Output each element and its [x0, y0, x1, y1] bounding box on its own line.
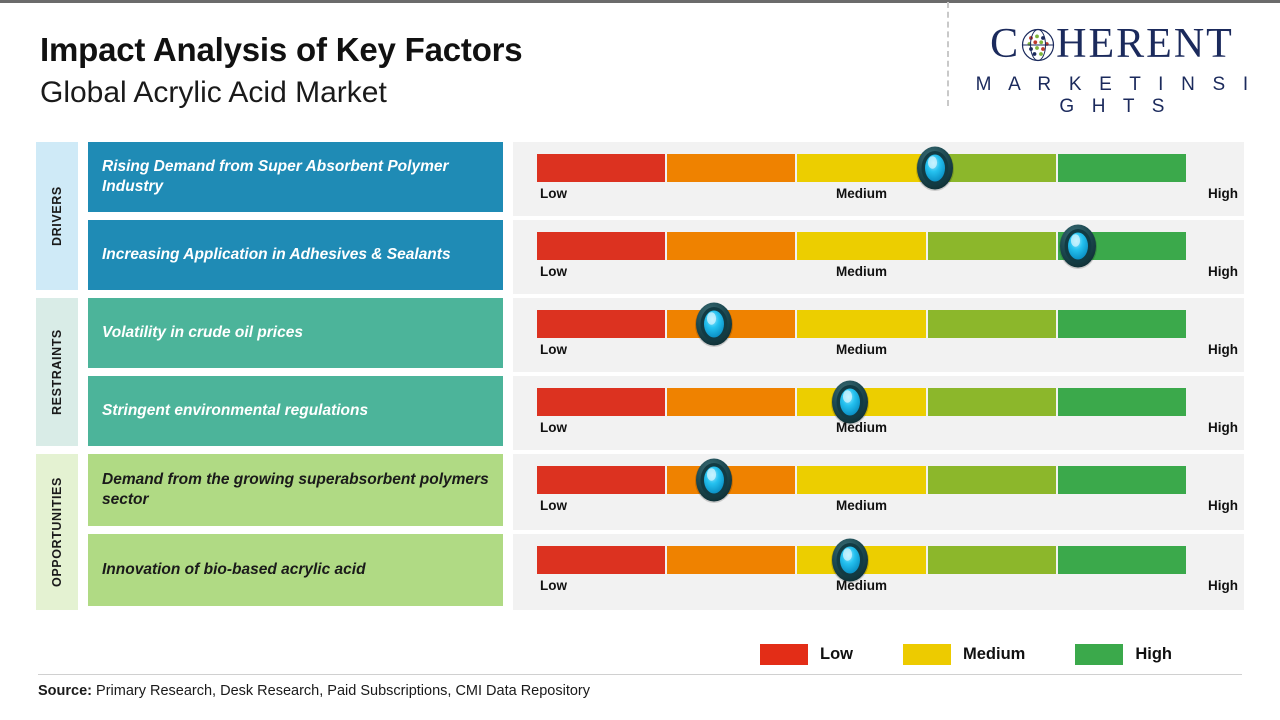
impact-gauge-bar: [537, 546, 1186, 574]
legend-swatch-medium: [903, 644, 951, 665]
legend-item: Medium: [903, 644, 1025, 665]
scale-label-high: High: [1208, 498, 1238, 513]
category-label-restraints: RESTRAINTS: [36, 298, 78, 446]
gauge-row: LowMediumHigh: [513, 220, 1244, 294]
gauge-segment-4: [928, 466, 1058, 494]
legend-swatch-low: [760, 644, 808, 665]
logo-divider: [947, 2, 949, 106]
gauge-scale: LowMediumHigh: [537, 186, 1186, 208]
gauge-segment-2: [667, 232, 797, 260]
impact-gauge-bar: [537, 388, 1186, 416]
gauge-row: LowMediumHigh: [513, 376, 1244, 450]
factor-label: Demand from the growing superabsorbent p…: [102, 470, 489, 511]
gauge-segment-5: [1058, 310, 1186, 338]
gauge-scale: LowMediumHigh: [537, 420, 1186, 442]
gauge-segment-3: [797, 546, 927, 574]
legend-label: Low: [820, 645, 853, 664]
gauge-segment-4: [928, 546, 1058, 574]
impact-gauge-bar: [537, 232, 1186, 260]
gauge-segment-1: [537, 154, 667, 182]
gauge-segment-1: [537, 232, 667, 260]
source-footer: Source: Primary Research, Desk Research,…: [38, 683, 590, 699]
gauge-segment-2: [667, 546, 797, 574]
gauge-segment-1: [537, 310, 667, 338]
logo-tagline: M A R K E T I N S I G H T S: [962, 74, 1262, 118]
top-divider: [0, 0, 1280, 3]
source-label: Source:: [38, 683, 92, 699]
gauge-row: LowMediumHigh: [513, 298, 1244, 372]
impact-gauge-bar: [537, 466, 1186, 494]
factor-label: Increasing Application in Adhesives & Se…: [102, 245, 451, 265]
factor-box: Innovation of bio-based acrylic acid: [88, 534, 503, 606]
gauge-row: LowMediumHigh: [513, 534, 1244, 610]
gauge-segment-5: [1058, 466, 1186, 494]
gauge-segment-1: [537, 546, 667, 574]
factor-box: Rising Demand from Super Absorbent Polym…: [88, 142, 503, 212]
gauge-segment-3: [797, 466, 927, 494]
scale-label-high: High: [1208, 578, 1238, 593]
legend-item: Low: [760, 644, 853, 665]
logo-word-herent: HERENT: [1056, 23, 1234, 65]
category-label-opportunities: OPPORTUNITIES: [36, 454, 78, 610]
factor-box: Stringent environmental regulations: [88, 376, 503, 446]
gauge-segment-5: [1058, 154, 1186, 182]
legend-label: Medium: [963, 645, 1025, 664]
factor-label: Stringent environmental regulations: [102, 401, 368, 421]
logo-wordmark-top: C: [962, 20, 1262, 68]
category-label-drivers: DRIVERS: [36, 142, 78, 290]
impact-gauge-bar: [537, 154, 1186, 182]
scale-label-low: Low: [540, 578, 567, 593]
scale-label-low: Low: [540, 342, 567, 357]
gauge-segment-3: [797, 232, 927, 260]
scale-label-high: High: [1208, 420, 1238, 435]
scale-label-high: High: [1208, 342, 1238, 357]
scale-label-medium: Medium: [836, 342, 887, 357]
factor-box: Increasing Application in Adhesives & Se…: [88, 220, 503, 290]
gauge-segment-4: [928, 310, 1058, 338]
scale-label-low: Low: [540, 498, 567, 513]
scale-label-high: High: [1208, 186, 1238, 201]
gauge-segment-4: [928, 388, 1058, 416]
scale-label-medium: Medium: [836, 498, 887, 513]
factor-label: Innovation of bio-based acrylic acid: [102, 560, 366, 580]
legend-label: High: [1135, 645, 1172, 664]
scale-label-medium: Medium: [836, 264, 887, 279]
scale-label-low: Low: [540, 420, 567, 435]
company-logo: C: [962, 20, 1262, 118]
gauge-segment-3: [797, 388, 927, 416]
source-text: Primary Research, Desk Research, Paid Su…: [92, 683, 590, 699]
gauge-scale: LowMediumHigh: [537, 342, 1186, 364]
gauge-row: LowMediumHigh: [513, 142, 1244, 216]
gauge-segment-5: [1058, 232, 1186, 260]
scale-label-high: High: [1208, 264, 1238, 279]
gauge-segment-5: [1058, 388, 1186, 416]
gauge-scale: LowMediumHigh: [537, 264, 1186, 286]
factor-box: Volatility in crude oil prices: [88, 298, 503, 368]
gauge-segment-2: [667, 310, 797, 338]
footer-divider: [38, 674, 1242, 675]
impact-gauge-bar: [537, 310, 1186, 338]
legend-item: High: [1075, 644, 1172, 665]
scale-label-medium: Medium: [836, 578, 887, 593]
logo-letter-c: C: [990, 23, 1020, 65]
gauge-scale: LowMediumHigh: [537, 498, 1186, 520]
gauge-segment-3: [797, 154, 927, 182]
page-subtitle: Global Acrylic Acid Market: [40, 74, 522, 112]
chart-legend: LowMediumHigh: [760, 644, 1172, 665]
scale-label-medium: Medium: [836, 186, 887, 201]
scale-label-low: Low: [540, 186, 567, 201]
gauge-segment-3: [797, 310, 927, 338]
page-header: Impact Analysis of Key Factors Global Ac…: [40, 30, 522, 111]
gauge-segment-2: [667, 466, 797, 494]
gauge-segment-4: [928, 154, 1058, 182]
page-title: Impact Analysis of Key Factors: [40, 30, 522, 70]
gauge-segment-1: [537, 466, 667, 494]
gauge-segment-1: [537, 388, 667, 416]
factor-label: Volatility in crude oil prices: [102, 323, 303, 343]
scale-label-medium: Medium: [836, 420, 887, 435]
factor-label: Rising Demand from Super Absorbent Polym…: [102, 157, 489, 198]
slide-root: Impact Analysis of Key Factors Global Ac…: [0, 0, 1280, 720]
gauge-segment-2: [667, 154, 797, 182]
gauge-segment-5: [1058, 546, 1186, 574]
scale-label-low: Low: [540, 264, 567, 279]
legend-swatch-high: [1075, 644, 1123, 665]
gauge-segment-2: [667, 388, 797, 416]
gauge-scale: LowMediumHigh: [537, 578, 1186, 600]
gauge-segment-4: [928, 232, 1058, 260]
factor-box: Demand from the growing superabsorbent p…: [88, 454, 503, 526]
gauge-row: LowMediumHigh: [513, 454, 1244, 530]
globe-icon: [1021, 28, 1055, 62]
